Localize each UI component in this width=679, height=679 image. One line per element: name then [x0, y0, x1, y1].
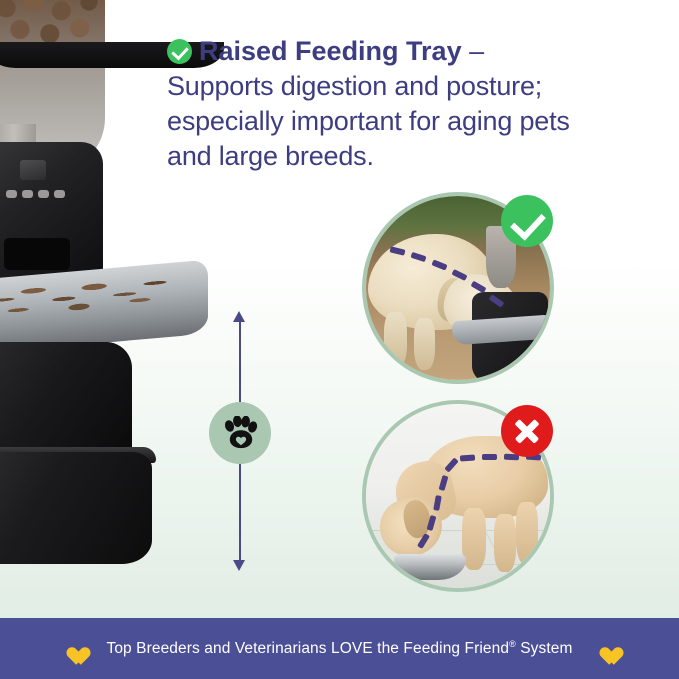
lcd-screen — [20, 160, 46, 180]
endorsement-text: Top Breeders and Veterinarians LOVE the … — [106, 639, 572, 658]
kibble-in-tray — [0, 271, 174, 324]
dog-mid-leg — [494, 514, 516, 572]
check-badge-icon — [501, 195, 553, 247]
banner-text-before: Top Breeders and Veterinarians LOVE the … — [106, 640, 509, 657]
paw-print-badge — [209, 402, 271, 464]
dog-hind-leg — [516, 502, 538, 564]
dispense-chute — [4, 238, 70, 270]
arrow-head-down-icon — [233, 560, 245, 571]
dog-front-leg — [384, 312, 407, 368]
feeder-control-body — [0, 142, 103, 282]
endorsement-banner: Top Breeders and Veterinarians LOVE the … — [0, 618, 679, 679]
trademark-symbol: ® — [509, 639, 516, 649]
control-buttons — [6, 190, 65, 198]
heart-icon-right — [595, 639, 617, 659]
title-dash: – — [462, 36, 485, 66]
feature-description: Supports digestion and posture; especial… — [167, 69, 607, 174]
check-circle-icon — [167, 39, 192, 64]
product-feature-poster: Raised Feeding Tray – Supports digestion… — [0, 0, 679, 679]
floor-food-bowl — [394, 554, 466, 580]
dog-back-leg — [414, 318, 435, 370]
x-badge-icon — [501, 405, 553, 457]
feature-title: Raised Feeding Tray — [199, 36, 462, 66]
headline-block: Raised Feeding Tray – Supports digestion… — [167, 33, 607, 174]
banner-text-after: System — [516, 640, 573, 657]
paw-print-icon — [222, 416, 258, 450]
feeder-pedestal — [0, 342, 132, 462]
feeder-base-bin — [0, 452, 152, 564]
heart-icon-left — [62, 639, 84, 659]
feature-title-line: Raised Feeding Tray – — [167, 33, 607, 69]
